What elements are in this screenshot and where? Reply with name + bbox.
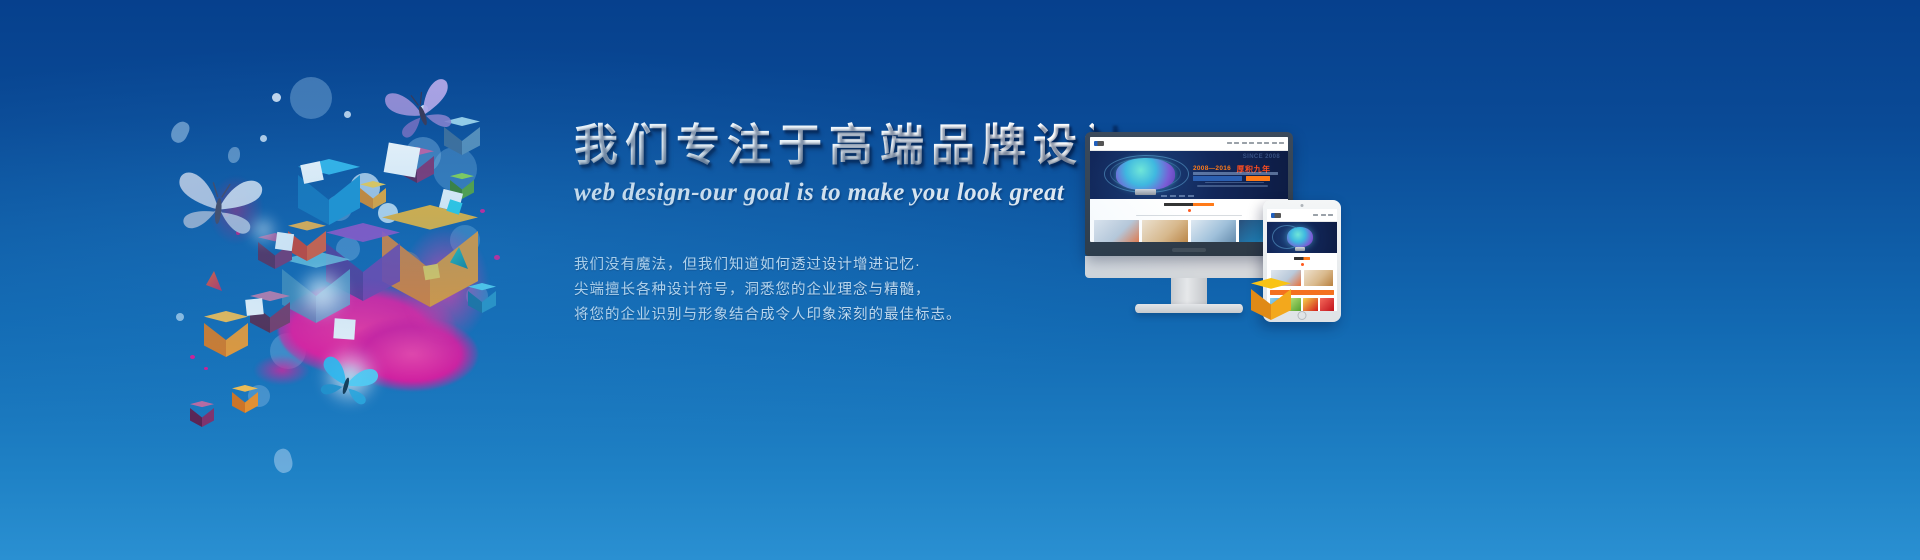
site-menu-item	[1328, 214, 1333, 216]
hero-button-accent	[1246, 176, 1270, 181]
section-title-bar	[1294, 257, 1310, 260]
hero-dot	[1161, 195, 1167, 197]
lightbulb-graphic	[1116, 158, 1175, 190]
paint-fleck	[480, 209, 485, 213]
site-hero: SINCE 2008 2008—2016 厚积九年	[1090, 151, 1288, 199]
bokeh-circle	[228, 147, 240, 163]
artwork-shapes	[150, 55, 570, 475]
triangle-shard	[206, 271, 222, 291]
site-card	[1304, 270, 1334, 286]
section-divider-dot	[1188, 209, 1191, 212]
mobile-thumb	[1303, 298, 1318, 311]
site-nav	[1090, 137, 1288, 151]
hero-text-line	[1197, 185, 1268, 187]
site-menu-item	[1257, 142, 1262, 144]
lightbulb-graphic	[1287, 227, 1314, 247]
site-logo	[1271, 213, 1281, 218]
white-square	[245, 298, 264, 316]
bokeh-circle	[176, 313, 184, 321]
site-menu	[1313, 214, 1333, 216]
description-line-1: 我们没有魔法，但我们知道如何透过设计增进记忆·	[574, 253, 1094, 278]
site-menu-item	[1234, 142, 1239, 144]
page-title: 我们专注于高端品牌设计	[574, 120, 1094, 172]
site-card	[1094, 220, 1139, 242]
cube-red-small	[288, 221, 326, 261]
hero-dot	[1179, 195, 1185, 197]
petal-shape	[271, 447, 295, 475]
site-hero	[1267, 222, 1337, 253]
cube-plum-tiny	[190, 401, 214, 427]
hero-button	[1193, 176, 1243, 181]
white-square	[333, 318, 355, 339]
site-menu-item	[1242, 142, 1247, 144]
monitor-bezel: SINCE 2008 2008—2016 厚积九年	[1085, 132, 1293, 256]
site-section-header	[1090, 199, 1288, 217]
monitor-chin	[1085, 256, 1293, 278]
site-card	[1142, 220, 1187, 242]
website-preview-desktop: SINCE 2008 2008—2016 厚积九年	[1090, 137, 1288, 242]
hero-year-text: 2008—2016	[1193, 165, 1231, 172]
light-glow	[292, 263, 352, 323]
hero-since-text: SINCE 2008	[1243, 154, 1280, 160]
abstract-artwork	[150, 55, 570, 475]
paint-fleck	[204, 367, 208, 370]
monitor-screen: SINCE 2008 2008—2016 厚积九年	[1090, 137, 1288, 242]
hero-dot	[1170, 195, 1176, 197]
mobile-thumb	[1320, 298, 1335, 311]
cube-amber-tiny	[360, 181, 386, 209]
butterfly-icon	[168, 160, 268, 247]
cube-orange-tiny	[232, 385, 258, 413]
paint-fleck	[494, 255, 500, 260]
site-card	[1191, 220, 1236, 242]
petal-shape	[168, 119, 192, 146]
site-menu-item	[1321, 214, 1326, 216]
site-menu-item	[1313, 214, 1318, 216]
site-section-header	[1267, 253, 1337, 266]
site-menu-item	[1249, 142, 1254, 144]
page-subtitle: web design-our goal is to make you look …	[574, 179, 1094, 207]
cube-left-face	[1251, 289, 1271, 320]
monitor-stand-foot	[1135, 304, 1243, 313]
site-card-grid	[1090, 216, 1288, 242]
white-square	[300, 161, 324, 184]
cube-cyan-tiny	[468, 283, 496, 313]
hero-pagination	[1161, 195, 1194, 197]
section-title-bar	[1164, 203, 1213, 206]
site-menu-item	[1279, 142, 1284, 144]
banner-description: 我们没有魔法，但我们知道如何透过设计增进记忆· 尖端擅长各种设计符号，洞悉您的企…	[574, 253, 1094, 328]
hero-banner: 我们专注于高端品牌设计 web design-our goal is to ma…	[0, 0, 1920, 560]
site-menu-item	[1227, 142, 1232, 144]
site-logo	[1094, 141, 1104, 146]
yellow-square	[423, 264, 440, 280]
banner-text-block: 我们专注于高端品牌设计 web design-our goal is to ma…	[574, 120, 1094, 328]
site-menu	[1227, 142, 1285, 144]
site-nav	[1267, 209, 1337, 222]
bokeh-circle	[260, 135, 267, 142]
description-line-3: 将您的企业识别与形象结合成令人印象深刻的最佳标志。	[574, 303, 1094, 328]
orange-cube-badge	[1251, 278, 1291, 322]
paint-fleck	[190, 355, 195, 359]
bokeh-circle	[272, 93, 281, 102]
cube-right-face	[1271, 289, 1291, 320]
hero-text-line	[1205, 182, 1264, 184]
paint-splatter	[254, 355, 310, 385]
cube-orange-small	[204, 311, 248, 357]
description-line-2: 尖端擅长各种设计符号，洞悉您的企业理念与精髓，	[574, 278, 1094, 303]
bokeh-circle	[290, 77, 332, 119]
bokeh-circle	[344, 111, 351, 118]
hero-subtext-bar	[1193, 172, 1278, 175]
hero-dot	[1188, 195, 1194, 197]
site-menu-item	[1272, 142, 1277, 144]
site-menu-item	[1264, 142, 1269, 144]
device-mockups: SINCE 2008 2008—2016 厚积九年	[1085, 132, 1385, 327]
cube-top-face	[1251, 278, 1291, 296]
monitor-stand-neck	[1171, 278, 1207, 304]
